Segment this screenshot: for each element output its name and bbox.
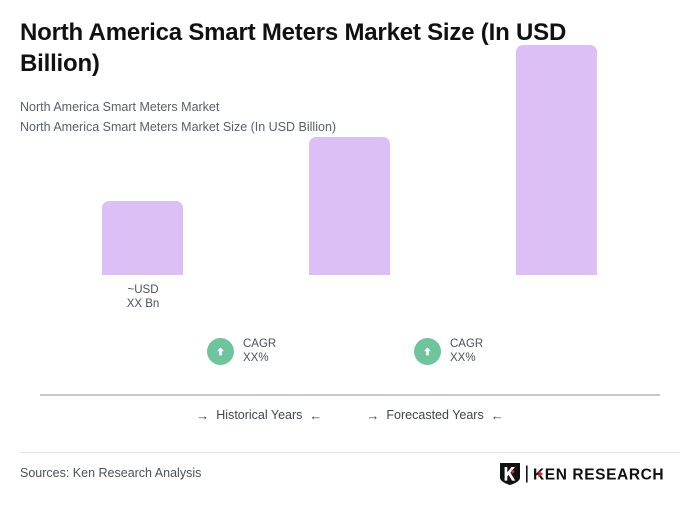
bar-1-value-amount: XX Bn: [102, 297, 184, 311]
bar-chart-plot: ~USD XX Bn CAGR XX% ~USD 7.1 Bn: [0, 0, 700, 400]
legend-label-historical-years: Historical Years: [216, 408, 302, 422]
bar-1[interactable]: [102, 201, 183, 275]
arrow-up-icon: [207, 338, 234, 365]
arrow-left-icon: ←: [491, 409, 504, 422]
arrow-right-icon: →: [366, 409, 379, 422]
cagr-annotation-1-text: CAGR XX%: [243, 337, 276, 366]
sources-text: Sources: Ken Research Analysis: [20, 466, 201, 480]
ken-research-logo: KEN RESEARCH: [499, 462, 678, 491]
footer-divider: [20, 452, 680, 453]
legend-item-historical-years: → Historical Years ←: [196, 408, 322, 422]
bar-3[interactable]: [516, 45, 597, 275]
period-legend: → Historical Years ← → Forecasted Years …: [40, 408, 660, 422]
cagr-annotation-2-line-2: XX%: [450, 352, 476, 364]
bar-1-value-label: ~USD XX Bn: [102, 283, 184, 312]
legend-item-forecasted-years: → Forecasted Years ←: [366, 408, 503, 422]
cagr-annotation-2: CAGR XX%: [414, 337, 483, 366]
cagr-annotation-2-line-1: CAGR: [450, 338, 483, 350]
cagr-annotation-1-line-1: CAGR: [243, 338, 276, 350]
arrow-right-icon: →: [196, 409, 209, 422]
axis-baseline: [40, 394, 660, 396]
bar-1-value-unit: ~USD: [102, 283, 184, 297]
arrow-up-icon: [414, 338, 441, 365]
chart-page: North America Smart Meters Market Size (…: [0, 0, 700, 520]
ken-research-shield-icon: [499, 462, 521, 491]
arrow-left-icon: ←: [309, 409, 322, 422]
svg-text:KEN RESEARCH: KEN RESEARCH: [533, 467, 664, 484]
ken-research-wordmark: KEN RESEARCH: [526, 464, 678, 489]
cagr-annotation-2-text: CAGR XX%: [450, 337, 483, 366]
legend-label-forecasted-years: Forecasted Years: [386, 408, 483, 422]
cagr-annotation-1: CAGR XX%: [207, 337, 276, 366]
bar-2[interactable]: [309, 137, 390, 275]
cagr-annotation-1-line-2: XX%: [243, 352, 269, 364]
